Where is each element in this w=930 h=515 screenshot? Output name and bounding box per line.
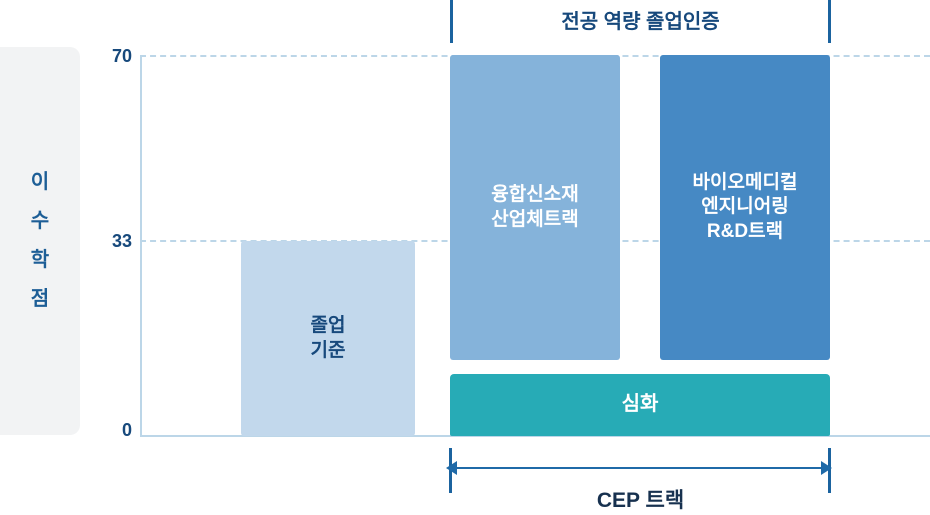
chart-canvas: 이 수 학 점 70 33 0 졸업 기준 융합신소재 산업체트랙 바이오메디컬… <box>0 0 930 515</box>
y-axis-title-panel: 이 수 학 점 <box>0 47 80 435</box>
bar-track-advanced-materials[interactable]: 융합신소재 산업체트랙 <box>450 55 620 360</box>
bar-graduation-standard[interactable]: 졸업 기준 <box>241 241 415 436</box>
y-axis-title-label: 이 수 학 점 <box>31 163 49 319</box>
cep-span-arrow-line <box>452 467 828 469</box>
bar-deepening[interactable]: 심화 <box>450 374 830 436</box>
arrow-right-icon <box>821 461 832 475</box>
bar-track-biomedical-engineering[interactable]: 바이오메디컬 엔지니어링 R&D트랙 <box>660 55 830 360</box>
y-tick-label-0: 0 <box>98 420 132 441</box>
y-tick-label-33: 33 <box>98 231 132 252</box>
bottom-bracket-label: CEP 트랙 <box>450 484 831 514</box>
arrow-left-icon <box>446 461 457 475</box>
y-axis-line <box>140 55 142 436</box>
y-tick-label-70: 70 <box>98 46 132 67</box>
top-bracket-label: 전공 역량 졸업인증 <box>450 5 831 34</box>
